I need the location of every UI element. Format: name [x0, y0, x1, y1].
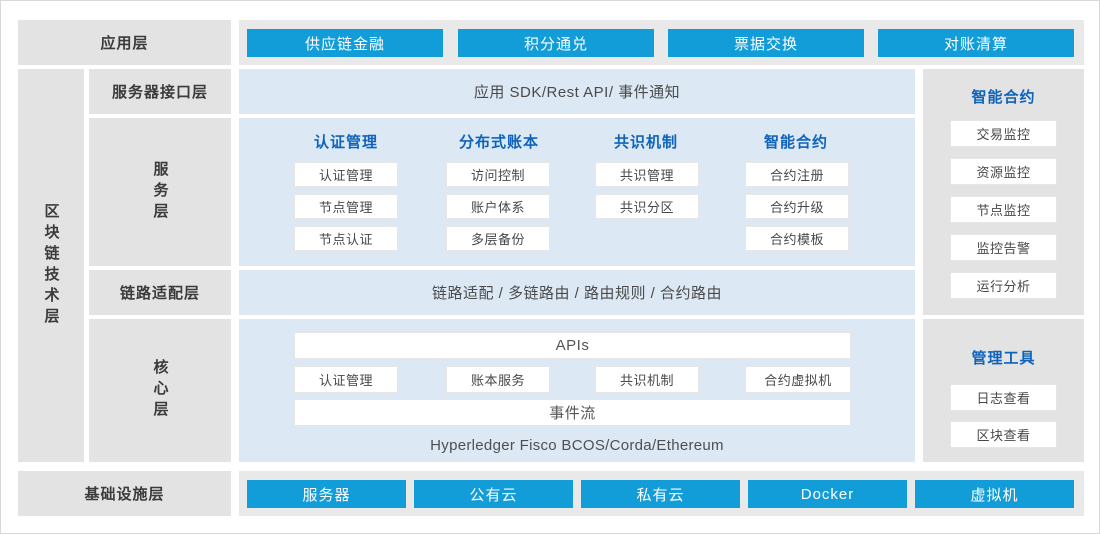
chip-label: 账户体系	[471, 197, 525, 216]
service-chip-contract-upgrade[interactable]: 合约升级	[745, 194, 849, 219]
chip-label: 监控告警	[976, 238, 1030, 257]
chip-label: 访问控制	[471, 165, 525, 184]
infra-button-private-cloud[interactable]: 私有云	[581, 480, 740, 508]
chip-label: 节点管理	[319, 197, 373, 216]
service-chip-access-control[interactable]: 访问控制	[446, 162, 550, 187]
server-interface-layer-label: 服务器接口层	[112, 81, 208, 102]
chip-label: 合约虚拟机	[764, 370, 832, 389]
chip-label: 多层备份	[471, 229, 525, 248]
chain-adapter-layer-text-wrap: 链路适配 / 多链路由 / 路由规则 / 合约路由	[239, 270, 915, 315]
infra-button-label: 服务器	[302, 484, 350, 505]
app-button-bill-exchange[interactable]: 票据交换	[668, 29, 864, 57]
right-chip-block-view[interactable]: 区块查看	[950, 421, 1057, 448]
server-interface-layer-label-box: 服务器接口层	[89, 69, 231, 114]
column-title: 共识机制	[614, 131, 678, 152]
chip-label: 共识管理	[620, 165, 674, 184]
application-layer-label: 应用层	[100, 32, 148, 53]
chip-label: 账本服务	[471, 370, 525, 389]
right-panel-title-management-tools: 管理工具	[923, 346, 1084, 368]
app-button-label: 票据交换	[734, 33, 798, 54]
core-chip-event-stream[interactable]: 事件流	[294, 399, 851, 426]
chip-label: 共识分区	[620, 197, 674, 216]
infra-button-virtual-machine[interactable]: 虚拟机	[915, 480, 1074, 508]
right-chip-log-view[interactable]: 日志查看	[950, 384, 1057, 411]
chip-label: 合约模板	[770, 229, 824, 248]
chip-label: APIs	[556, 337, 590, 354]
core-chip-auth-management[interactable]: 认证管理	[294, 366, 398, 393]
right-chip-resource-monitor[interactable]: 资源监控	[950, 158, 1057, 185]
chip-label: 认证管理	[319, 370, 373, 389]
right-chip-runtime-analysis[interactable]: 运行分析	[950, 272, 1057, 299]
chip-label: 节点认证	[319, 229, 373, 248]
core-layer-label: 核心层	[153, 359, 168, 422]
core-layer-platforms-wrap: Hyperledger Fisco BCOS/Corda/Ethereum	[239, 431, 915, 459]
service-chip-multilayer-backup[interactable]: 多层备份	[446, 226, 550, 251]
server-interface-layer-text-wrap: 应用 SDK/Rest API/ 事件通知	[239, 69, 915, 114]
service-chip-contract-template[interactable]: 合约模板	[745, 226, 849, 251]
app-button-label: 对账清算	[944, 33, 1008, 54]
chip-label: 认证管理	[319, 165, 373, 184]
service-chip-consensus-partition[interactable]: 共识分区	[595, 194, 699, 219]
service-column-title-consensus: 共识机制	[591, 131, 701, 151]
chain-adapter-layer-text: 链路适配 / 多链路由 / 路由规则 / 合约路由	[432, 282, 722, 303]
panel-title: 智能合约	[971, 86, 1035, 107]
chip-label: 运行分析	[976, 276, 1030, 295]
blockchain-tech-layer-label-box: 区块链技术层	[18, 69, 84, 462]
column-title: 认证管理	[314, 131, 378, 152]
chip-label: 事件流	[549, 402, 596, 423]
chip-label: 日志查看	[976, 388, 1030, 407]
service-chip-contract-register[interactable]: 合约注册	[745, 162, 849, 187]
service-column-title-smart-contract: 智能合约	[741, 131, 851, 151]
service-chip-account-system[interactable]: 账户体系	[446, 194, 550, 219]
infra-button-server[interactable]: 服务器	[247, 480, 406, 508]
app-button-points-exchange[interactable]: 积分通兑	[458, 29, 654, 57]
core-layer-platforms: Hyperledger Fisco BCOS/Corda/Ethereum	[430, 437, 724, 454]
chip-label: 资源监控	[976, 162, 1030, 181]
column-title: 智能合约	[764, 131, 828, 152]
chip-label: 合约升级	[770, 197, 824, 216]
service-layer-label-box: 服务层	[89, 118, 231, 266]
right-chip-node-monitor[interactable]: 节点监控	[950, 196, 1057, 223]
service-column-title-ledger: 分布式账本	[439, 131, 559, 151]
chain-adapter-layer-label-box: 链路适配层	[89, 270, 231, 315]
chip-label: 区块查看	[976, 425, 1030, 444]
core-layer-label-box: 核心层	[89, 319, 231, 462]
infra-button-label: Docker	[801, 486, 855, 503]
chip-label: 共识机制	[620, 370, 674, 389]
column-title: 分布式账本	[459, 131, 539, 152]
right-chip-monitor-alert[interactable]: 监控告警	[950, 234, 1057, 261]
infra-button-label: 私有云	[636, 484, 684, 505]
server-interface-layer-text: 应用 SDK/Rest API/ 事件通知	[474, 81, 680, 102]
app-button-label: 供应链金融	[305, 33, 385, 54]
service-chip-consensus-management[interactable]: 共识管理	[595, 162, 699, 187]
infra-button-public-cloud[interactable]: 公有云	[414, 480, 573, 508]
service-layer-label: 服务层	[153, 161, 168, 224]
service-column-title-auth: 认证管理	[291, 131, 401, 151]
core-chip-contract-vm[interactable]: 合约虚拟机	[745, 366, 851, 393]
right-chip-transaction-monitor[interactable]: 交易监控	[950, 120, 1057, 147]
service-chip-auth-management[interactable]: 认证管理	[294, 162, 398, 187]
app-button-reconciliation-settlement[interactable]: 对账清算	[878, 29, 1074, 57]
app-button-label: 积分通兑	[524, 33, 588, 54]
chain-adapter-layer-label: 链路适配层	[120, 282, 200, 303]
core-chip-consensus-mechanism[interactable]: 共识机制	[595, 366, 699, 393]
infrastructure-layer-label: 基础设施层	[84, 483, 164, 504]
chip-label: 合约注册	[770, 165, 824, 184]
core-chip-ledger-service[interactable]: 账本服务	[446, 366, 550, 393]
infra-button-label: 公有云	[469, 484, 517, 505]
application-layer-label-box: 应用层	[18, 20, 231, 65]
app-button-supply-chain-finance[interactable]: 供应链金融	[247, 29, 443, 57]
service-chip-node-auth[interactable]: 节点认证	[294, 226, 398, 251]
infra-button-docker[interactable]: Docker	[748, 480, 907, 508]
service-chip-node-management[interactable]: 节点管理	[294, 194, 398, 219]
chip-label: 交易监控	[976, 124, 1030, 143]
architecture-diagram: 应用层 供应链金融 积分通兑 票据交换 对账清算 区块链技术层 服务器接口层 应…	[0, 0, 1100, 534]
infra-button-label: 虚拟机	[970, 484, 1018, 505]
blockchain-tech-layer-label: 区块链技术层	[44, 203, 59, 329]
chip-label: 节点监控	[976, 200, 1030, 219]
core-chip-apis[interactable]: APIs	[294, 332, 851, 359]
right-panel-title-smart-contract: 智能合约	[923, 85, 1084, 107]
panel-title: 管理工具	[971, 347, 1035, 368]
infrastructure-layer-label-box: 基础设施层	[18, 471, 231, 516]
